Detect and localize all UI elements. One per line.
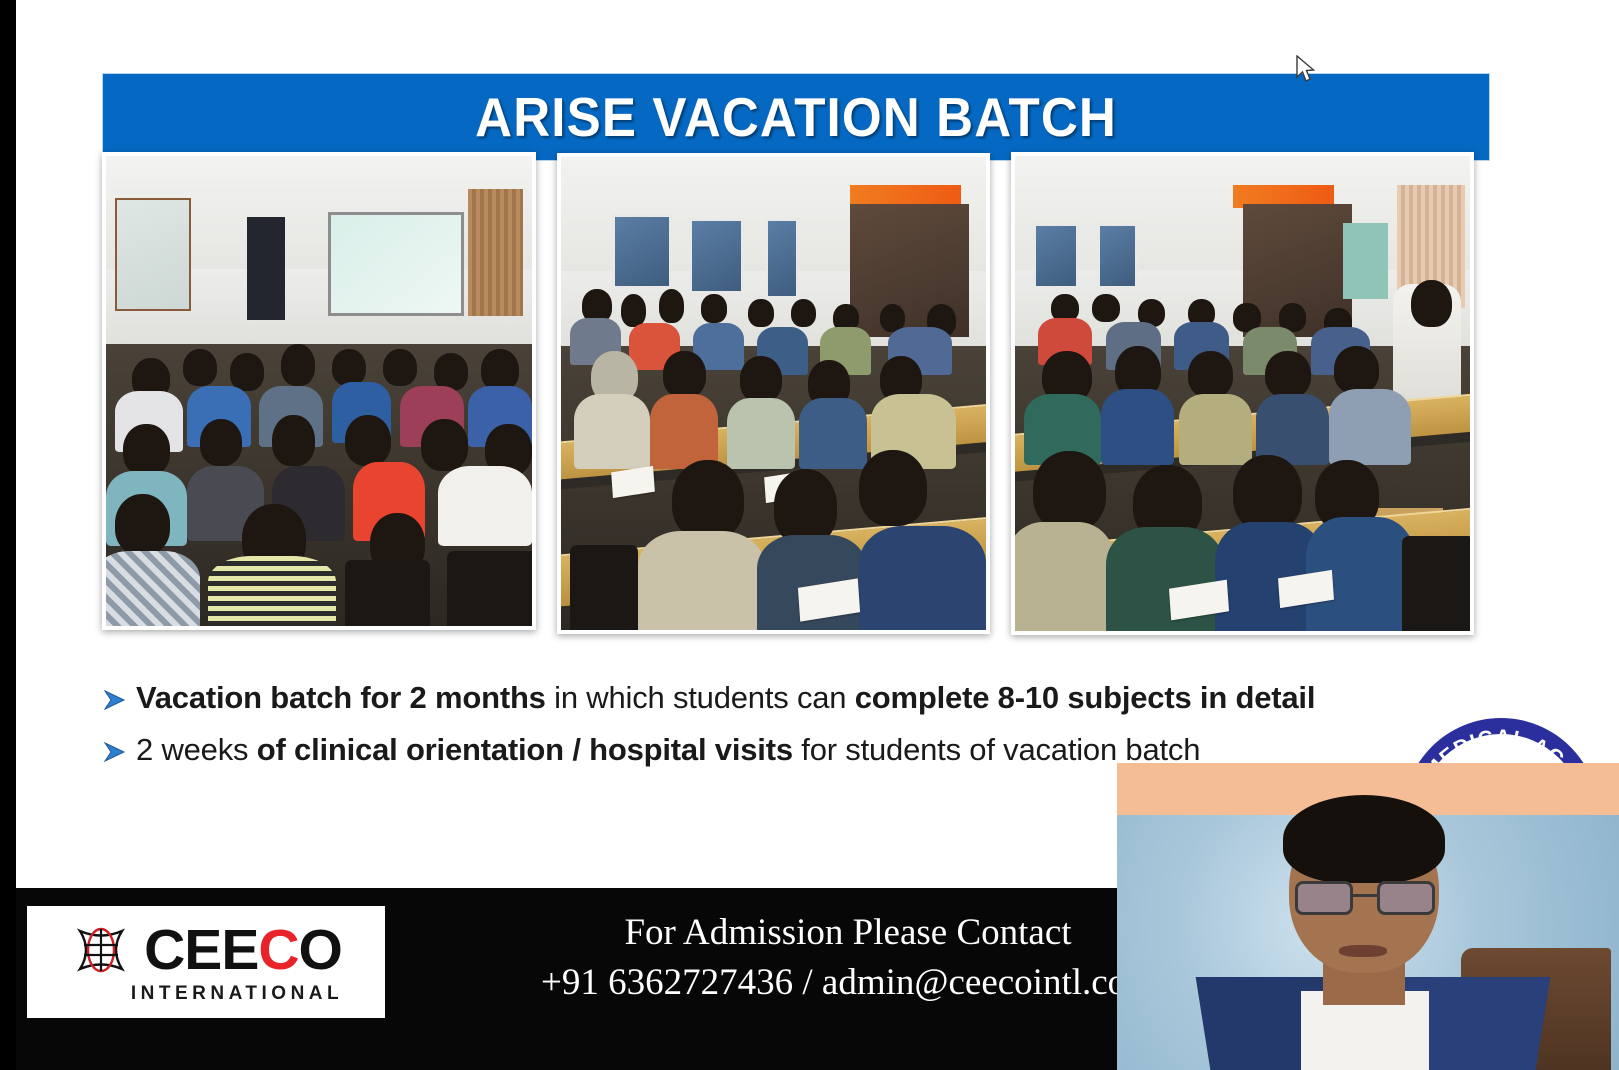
slide-title: ARISE VACATION BATCH	[475, 85, 1117, 149]
ceeco-wordmark: CEECO	[144, 922, 342, 979]
logo-word-part-1: CEE	[144, 918, 258, 982]
slide-title-banner: ARISE VACATION BATCH	[102, 73, 1490, 161]
screen-left-edge	[0, 0, 16, 1070]
glasses-icon	[1295, 881, 1435, 915]
mouth	[1339, 945, 1387, 957]
globe-icon	[70, 919, 132, 981]
presenter-video-overlay[interactable]	[1117, 763, 1619, 1070]
classroom-photo-1	[102, 152, 536, 630]
logo-word-part-3: O	[299, 918, 342, 982]
bullet-2-seg-1: 2 weeks	[136, 732, 257, 767]
bullet-1-seg-2: in which students can	[546, 680, 855, 715]
screen: ARISE VACATION BATCH	[0, 0, 1619, 1070]
classroom-photo-2	[557, 153, 990, 634]
list-item: Vacation batch for 2 months in which stu…	[102, 681, 1482, 717]
bullet-1-seg-1: Vacation batch for 2 months	[136, 680, 546, 715]
presenter-hair	[1283, 795, 1445, 883]
bullet-2-seg-2: of clinical orientation / hospital visit…	[257, 732, 793, 767]
classroom-photo-3	[1011, 152, 1474, 635]
bullet-2-seg-3: for students of vacation batch	[793, 732, 1200, 767]
logo-subtitle: INTERNATIONAL	[131, 983, 343, 1005]
bullet-1-text: Vacation batch for 2 months in which stu…	[136, 681, 1315, 716]
mouse-pointer-icon	[1295, 55, 1317, 85]
ceeco-logo: CEECO INTERNATIONAL	[27, 906, 385, 1018]
chevron-bullet-icon	[102, 681, 136, 717]
chevron-bullet-icon	[102, 733, 136, 769]
logo-word-part-2: C	[258, 918, 298, 982]
bullet-2-text: 2 weeks of clinical orientation / hospit…	[136, 733, 1200, 768]
bullet-1-seg-3: complete 8-10 subjects in detail	[855, 680, 1315, 715]
